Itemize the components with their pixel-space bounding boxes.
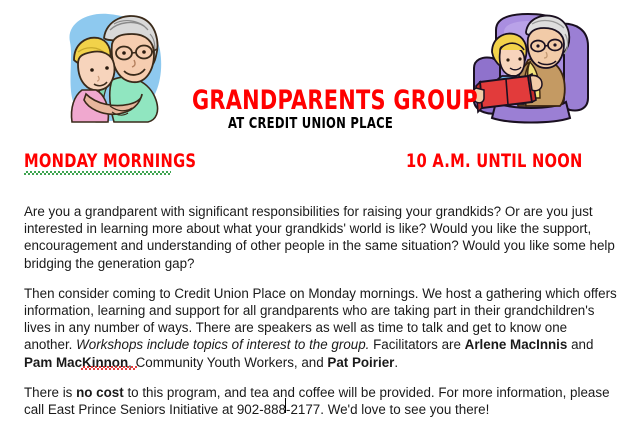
page-title: GRANDPARENTS GROUP: [192, 86, 478, 116]
grandmother-hugging-child-image: [52, 8, 170, 128]
paragraph-contact-part-1: There is: [24, 385, 76, 400]
grandfather-child-reading-image: [466, 6, 594, 128]
workshops-italic-phrase: Workshops include topics of interest to …: [76, 337, 369, 352]
facilitator-name-1: Arlene MacInnis: [465, 337, 568, 352]
body-copy[interactable]: Are you a grandparent with significant r…: [24, 203, 618, 418]
page-subtitle: AT CREDIT UNION PLACE: [228, 115, 393, 132]
paragraph-contact: There is no cost to this program, and te…: [24, 384, 618, 418]
heading-time: 10 A.M. UNTIL NOON: [406, 150, 583, 172]
paragraph-details-part-2: Facilitators are: [369, 337, 464, 352]
facilitator-connector-1: and: [567, 337, 593, 352]
no-cost-bold-phrase: no cost: [76, 385, 124, 400]
spellcheck-underline-macinnis: [81, 366, 137, 370]
paragraph-intro: Are you a grandparent with significant r…: [24, 203, 618, 272]
spellcheck-underline-day-heading: [24, 171, 171, 175]
paragraph-details-part-3: .: [394, 355, 398, 370]
paragraph-details: Then consider coming to Credit Union Pla…: [24, 285, 618, 371]
document-page: GRANDPARENTS GROUP AT CREDIT UNION PLACE…: [0, 0, 640, 430]
facilitator-connector-2: , Community Youth Workers, and: [128, 355, 327, 370]
facilitator-name-3: Pat Poirier: [327, 355, 394, 370]
text-insertion-caret: [285, 398, 286, 413]
heading-day: MONDAY MORNINGS: [24, 150, 196, 172]
